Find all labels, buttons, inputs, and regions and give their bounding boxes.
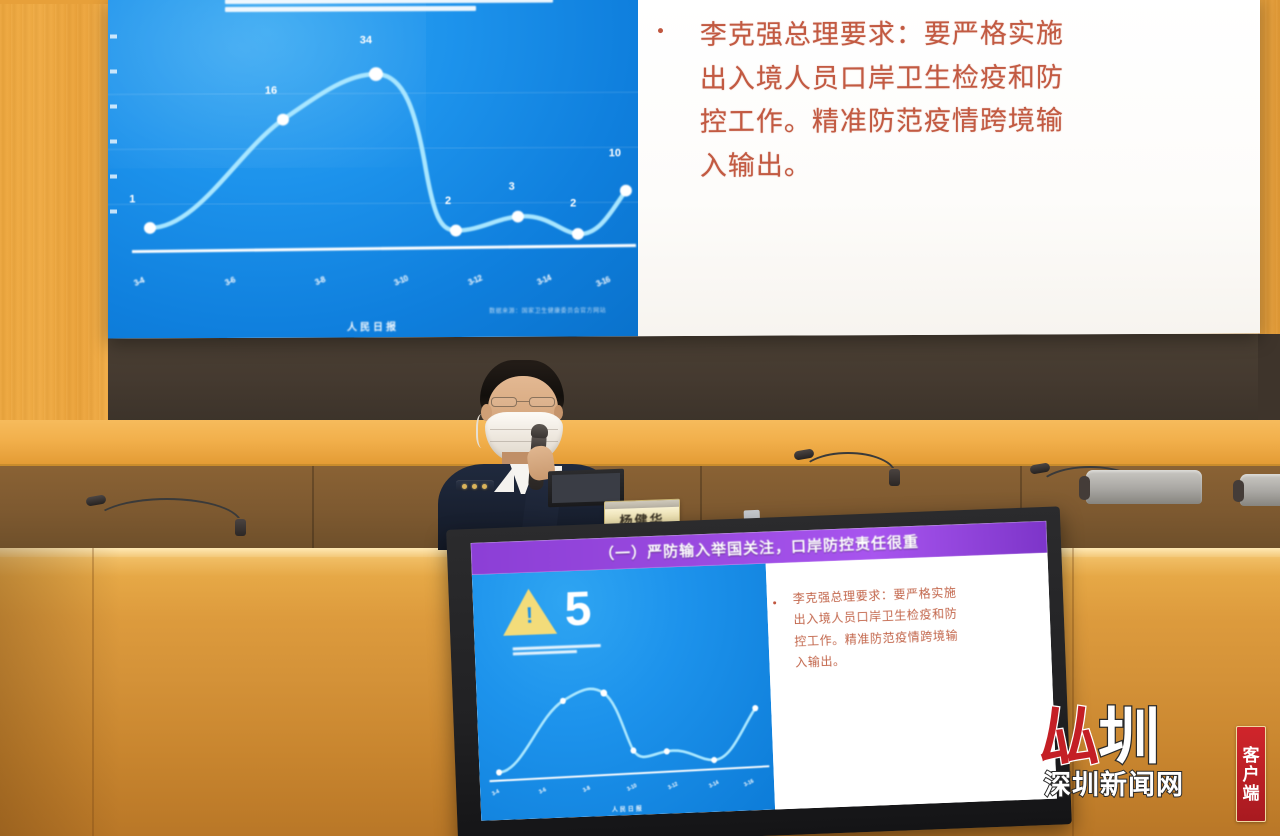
shenzhen-news-watermark: 厸 圳 深圳新闻网 客 户 端 xyxy=(1038,710,1268,830)
glasses-icon xyxy=(489,397,557,407)
bullet-icon xyxy=(773,601,776,604)
acoustic-panel-band-right xyxy=(1258,334,1280,422)
chart-data-label: 1 xyxy=(129,194,135,206)
chart-source-note: 数据来源：国家卫生健康委员会官方网站 xyxy=(489,305,606,315)
chart-data-label: 34 xyxy=(360,34,372,46)
chart-data-label: 2 xyxy=(570,198,576,210)
banner-char: 端 xyxy=(1243,785,1260,802)
mic-base xyxy=(235,519,246,536)
watermark-site-name: 深圳新闻网 xyxy=(1038,763,1268,802)
line-chart: 1 16 34 2 3 2 10 xyxy=(108,12,638,308)
slide-body-line: 李克强总理要求：要严格实施 xyxy=(700,12,1230,58)
bullet-icon xyxy=(658,28,663,33)
chair-right xyxy=(1086,470,1202,504)
chart-data-label: 10 xyxy=(609,148,621,160)
warning-number: 5 xyxy=(564,585,591,634)
watermark-client-banner: 客 户 端 xyxy=(1236,726,1266,822)
monitor-line-chart: 3-4 3-6 3-8 3-10 3-12 3-14 3-16 xyxy=(476,662,774,799)
presenter-monitor[interactable]: （一）严防输入举国关注，口岸防控责任很重 5 xyxy=(446,506,1072,836)
chair-far-right xyxy=(1240,474,1280,506)
slide-text-panel: 李克强总理要求：要严格实施 出入境人员口岸卫生检疫和防 控工作。精准防范疫情跨境… xyxy=(638,0,1260,336)
warning-header: 5 xyxy=(502,585,590,636)
watermark-logo-char-red: 厸 xyxy=(1038,710,1098,767)
monitor-body-text: 李克强总理要求：要严格实施 出入境人员口岸卫生检疫和防 控工作。精准防范疫情跨境… xyxy=(776,579,1035,674)
warning-caption xyxy=(513,644,601,655)
mask-ear-strap xyxy=(476,414,490,448)
acoustic-panel-band xyxy=(108,334,1258,422)
banner-char: 户 xyxy=(1243,766,1260,783)
monitor-infographic-panel: 5 xyxy=(472,564,775,821)
recess-seam xyxy=(312,466,314,550)
mic-arm xyxy=(92,498,242,524)
wall-projection-screen: 1 16 34 2 3 2 10 3-4 3-6 3-8 3-10 3-12 3… xyxy=(108,0,1260,339)
screenshot-root: 杨健华 xyxy=(0,0,1280,836)
monitor-text-panel: 李克强总理要求：要严格实施 出入境人员口岸卫生检疫和防 控工作。精准防范疫情跨境… xyxy=(765,553,1056,810)
mic-head xyxy=(1029,462,1050,474)
watermark-logo: 厸 圳 xyxy=(1038,710,1268,767)
chart-data-label: 16 xyxy=(265,84,277,96)
slide-body-text: 李克强总理要求：要严格实施 出入境人员口岸卫生检疫和防 控工作。精准防范疫情跨境… xyxy=(672,12,1230,189)
chart-data-label: 3 xyxy=(509,180,515,192)
nameplate-holder xyxy=(605,500,679,510)
chart-data-label: 2 xyxy=(445,195,451,207)
slide-body-line: 出入境人员口岸卫生检疫和防 xyxy=(700,55,1230,101)
gooseneck-mic-center-left xyxy=(800,452,896,474)
desk-shadow xyxy=(0,548,120,836)
chart-line xyxy=(150,73,626,236)
slide-body-line: 入输出。 xyxy=(700,143,1230,189)
monitor-display: （一）严防输入举国关注，口岸防控责任很重 5 xyxy=(471,521,1057,821)
warning-triangle-icon xyxy=(502,587,558,635)
gooseneck-mic-left xyxy=(92,498,242,524)
ceiling-sliver xyxy=(0,0,110,4)
monitor-chart-svg xyxy=(476,662,774,799)
mic-head xyxy=(85,494,106,506)
mic-arm xyxy=(800,452,896,474)
wood-rail xyxy=(0,420,1280,466)
banner-char: 客 xyxy=(1243,747,1260,764)
watermark-logo-char-dark: 圳 xyxy=(1098,710,1158,767)
uniform-collar-left xyxy=(494,466,514,492)
slide-body-line: 控工作。精准防范疫情跨境输 xyxy=(700,99,1230,145)
peoples-daily-logo: 人民日报 xyxy=(108,317,638,334)
mic-base xyxy=(889,469,900,486)
chart-svg xyxy=(108,12,638,308)
slide-infographic-panel: 1 16 34 2 3 2 10 3-4 3-6 3-8 3-10 3-12 3… xyxy=(108,0,638,339)
chart-axis-line xyxy=(132,245,636,251)
presenter xyxy=(432,360,632,550)
epaulette-left xyxy=(456,480,494,491)
monitor-peoples-daily-logo: 人民日报 xyxy=(481,798,775,818)
monitor-bezel: （一）严防输入举国关注，口岸防控责任很重 5 xyxy=(446,506,1072,836)
